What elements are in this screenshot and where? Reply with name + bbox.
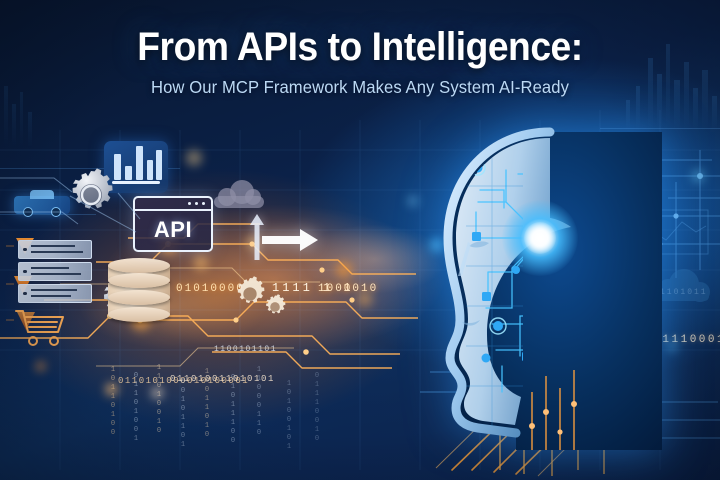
binary-text: 1100101101 (214, 345, 277, 354)
shopping-cart-icon (14, 308, 68, 350)
api-label: API (135, 210, 211, 250)
chart-bar (156, 150, 162, 180)
chart-baseline (112, 181, 160, 184)
arrow-up-icon (250, 214, 264, 260)
glow-node (246, 236, 259, 249)
binary-column: 01011100 (228, 374, 237, 456)
glow-node (36, 362, 45, 371)
bar-chart-icon (104, 141, 168, 193)
cloud-icon (657, 269, 710, 302)
chart-bar (147, 160, 153, 180)
binary-text: 1101011 (660, 288, 708, 297)
glow-node (358, 292, 372, 306)
brain-circuit-pattern (432, 126, 662, 456)
binary-text: 011010011010101 (170, 374, 275, 384)
glow-node (186, 150, 202, 166)
api-window-icon: API (133, 196, 213, 252)
car-icon (14, 196, 70, 214)
binary-column: 01101001 (131, 372, 140, 458)
binary-column: 10110100 (108, 366, 117, 462)
binary-text: 01010000 (176, 283, 245, 295)
triangle-icon (17, 312, 35, 330)
page-subtitle: How Our MCP Framework Makes Any System A… (18, 77, 702, 98)
headline-block: From APIs to Intelligence: How Our MCP F… (0, 26, 720, 98)
cloud-icon (212, 178, 266, 208)
binary-column: 10011010 (202, 368, 211, 460)
gear-icon (232, 276, 268, 312)
arrow-right-icon (262, 229, 318, 251)
glow-node (106, 384, 117, 395)
database-icon (108, 258, 170, 326)
server-list-icon (18, 240, 90, 302)
binary-text: 0110101000010100001 (118, 376, 249, 386)
chart-bar (136, 146, 143, 180)
hero-banner: 01010000 1111 1 1 1000010 1100101101 011… (0, 0, 720, 480)
glow-node (336, 262, 352, 278)
binary-text: 1111 1 1 (272, 281, 354, 295)
ai-head-profile-icon (432, 126, 662, 456)
chart-bar (114, 154, 121, 180)
binary-text: 1000010 (318, 283, 378, 295)
binary-column: 00101101 (178, 378, 187, 456)
glow-node (408, 196, 418, 206)
binary-column: 10100101 (284, 380, 293, 450)
binary-column: 11010010 (154, 364, 163, 468)
glow-node (194, 256, 208, 270)
binary-column: 01110010 (312, 372, 321, 450)
chart-bar (125, 166, 132, 180)
glow-node (152, 388, 162, 398)
gear-icon (262, 294, 288, 320)
glow-node (692, 170, 704, 182)
page-title: From APIs to Intelligence: (25, 26, 695, 68)
binary-column: 11000110 (254, 366, 263, 462)
glow-node (666, 340, 678, 352)
